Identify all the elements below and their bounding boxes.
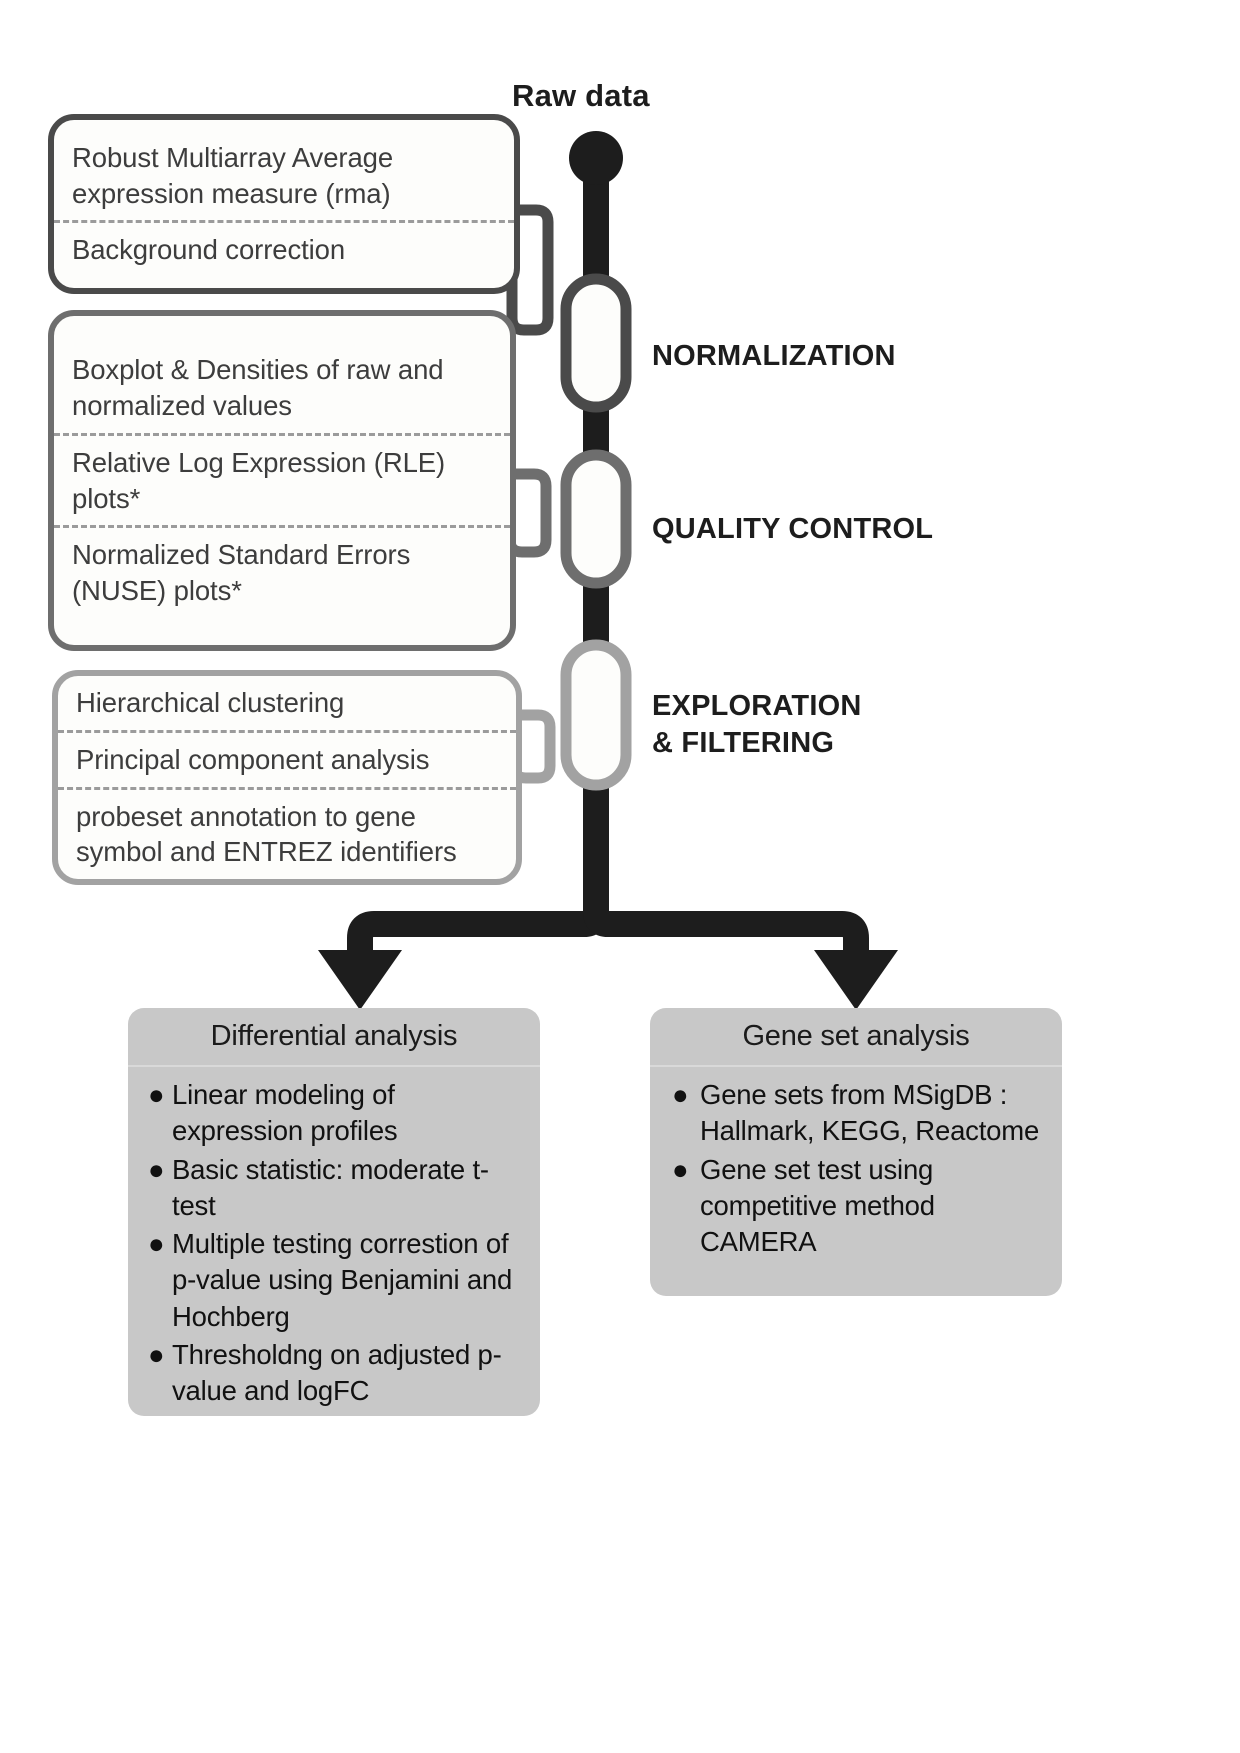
detail-card-normalization: Robust Multiarray Average expression mea… [48,114,520,294]
list-item-label: Multiple testing correstion of p-value u… [172,1228,512,1332]
split-connector-left [360,906,596,972]
bullet-icon: ● [672,1152,688,1188]
stage-label-exploration-line2: & FILTERING [652,725,862,762]
result-panel-gene-set-analysis: Gene set analysis ●Gene sets from MSigDB… [650,1008,1062,1296]
arrowhead-differential [318,950,402,1010]
detail-row-hierarchical-clustering: Hierarchical clustering [58,676,516,730]
detail-row-boxplot-densities: Boxplot & Densities of raw and normalize… [54,343,510,433]
list-item: ●Thresholdng on adjusted p-value and log… [142,1337,526,1410]
list-item-label: Basic statistic: moderate t-test [172,1154,489,1221]
bullet-icon: ● [148,1077,164,1113]
list-item-label: Gene set test using competitive method C… [700,1154,935,1258]
list-item-label: Thresholdng on adjusted p-value and logF… [172,1339,502,1406]
result-panel-differential-analysis: Differential analysis ●Linear modeling o… [128,1008,540,1416]
bullet-icon: ● [672,1077,688,1113]
detail-row-rma: Robust Multiarray Average expression mea… [54,131,514,221]
detail-row-probeset-annotation: probeset annotation to gene symbol and E… [58,787,516,880]
raw-data-node [569,131,623,185]
split-connector-right [596,906,856,972]
workflow-diagram: Raw data Robust Multiarray Average expre… [0,0,1240,1753]
result-panel-title: Differential analysis [128,1008,540,1067]
list-item: ●Gene set test using competitive method … [664,1152,1048,1261]
stage-label-exploration: EXPLORATION & FILTERING [652,688,862,762]
list-item: ●Multiple testing correstion of p-value … [142,1226,526,1335]
result-list-differential: ●Linear modeling of expression profiles●… [128,1067,540,1416]
stage-capsule-exploration [566,645,626,785]
list-item-label: Gene sets from MSigDB : Hallmark, KEGG, … [700,1079,1039,1146]
arrowhead-geneset [814,950,898,1010]
stage-label-quality-control: QUALITY CONTROL [652,511,933,548]
detail-row-pca: Principal component analysis [58,730,516,787]
bullet-icon: ● [148,1337,164,1373]
list-item: ●Gene sets from MSigDB : Hallmark, KEGG,… [664,1077,1048,1150]
detail-card-quality-control: Boxplot & Densities of raw and normalize… [48,310,516,651]
stage-label-normalization: NORMALIZATION [652,338,896,375]
result-list-geneset: ●Gene sets from MSigDB : Hallmark, KEGG,… [650,1067,1062,1278]
list-item: ●Linear modeling of expression profiles [142,1077,526,1150]
result-panel-title: Gene set analysis [650,1008,1062,1067]
stage-label-exploration-line1: EXPLORATION [652,688,862,725]
stage-capsule-normalization [566,279,626,407]
detail-row-background-correction: Background correction [54,220,514,277]
detail-row-rle-plots: Relative Log Expression (RLE) plots* [54,433,510,526]
list-item: ●Basic statistic: moderate t-test [142,1152,526,1225]
list-item-label: Linear modeling of expression profiles [172,1079,397,1146]
detail-row-nuse-plots: Normalized Standard Errors (NUSE) plots* [54,525,510,618]
bullet-icon: ● [148,1152,164,1188]
detail-card-exploration: Hierarchical clustering Principal compon… [52,670,522,885]
bullet-icon: ● [148,1226,164,1262]
stage-capsule-quality-control [566,455,626,583]
page-title: Raw data [512,78,650,114]
